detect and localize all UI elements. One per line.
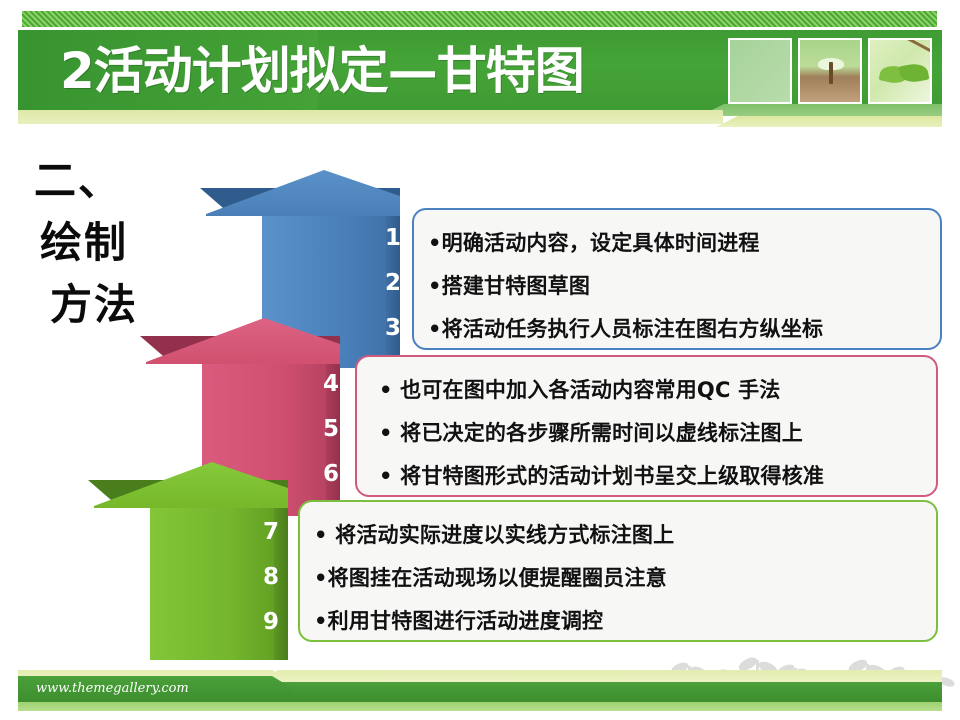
step-number: 4 [318,362,344,407]
list-item: •将图挂在活动现场以便提醒圈员注意 [314,557,922,600]
content-box-blue: •明确活动内容，设定具体时间进程 •搭建甘特图草图 •将活动任务执行人员标注在图… [412,208,942,350]
list-item: • 也可在图中加入各活动内容常用QC 手法 [371,369,922,412]
header-thumbnail-strip [728,38,938,104]
list-item: •搭建甘特图草图 [428,265,926,308]
step-number: 5 [318,407,344,452]
plain-green-swatch-icon [728,38,792,104]
content-box-green: • 将活动实际进度以实线方式标注图上 •将图挂在活动现场以便提醒圈员注意 •利用… [298,500,938,642]
step-number: 1 [380,216,406,261]
header-pale-band-left [18,110,723,124]
list-item: •将活动任务执行人员标注在图右方纵坐标 [428,308,926,351]
list-item: •明确活动内容，设定具体时间进程 [428,222,926,265]
header-green-band-right [700,104,942,116]
content-list-red: • 也可在图中加入各活动内容常用QC 手法 • 将已决定的各步骤所需时间以虚线标… [357,357,936,498]
list-item: • 将已决定的各步骤所需时间以虚线标注图上 [371,412,922,455]
header-pale-band-right [716,116,942,127]
step-number: 2 [380,261,406,306]
content-list-green: • 将活动实际进度以实线方式标注图上 •将图挂在活动现场以便提醒圈员注意 •利用… [300,502,936,643]
seedling-photo-icon [798,38,862,104]
step-number: 6 [318,452,344,497]
step-numbers-blue: 1 2 3 [380,216,406,346]
footer-url-label: www.themegallery.com [36,678,189,700]
step-number: 3 [380,306,406,351]
step-numbers-red: 4 5 6 [318,362,344,492]
page-title: 2活动计划拟定—甘特图 [60,36,720,106]
section-heading: 二、 绘制 方法 [30,150,200,336]
step-number: 9 [258,600,284,645]
green-leaves-photo-icon [868,38,932,104]
list-item: • 将甘特图形式的活动计划书呈交上级取得核准 [371,455,922,498]
section-heading-line-2: 绘制 [30,212,200,274]
step-number: 7 [258,510,284,555]
content-box-red: • 也可在图中加入各活动内容常用QC 手法 • 将已决定的各步骤所需时间以虚线标… [355,355,938,497]
list-item: • 将活动实际进度以实线方式标注图上 [314,514,922,557]
striped-decoration-band [22,11,937,27]
list-item: •利用甘特图进行活动进度调控 [314,600,922,643]
footer-green-band-right [276,682,942,702]
step-numbers-green: 7 8 9 [258,510,284,640]
section-heading-line-1: 二、 [30,150,200,212]
footer-bottom-strip [18,702,942,711]
step-number: 8 [258,555,284,600]
branch-shape-icon [901,38,932,53]
slide-header: 2活动计划拟定—甘特图 [0,0,960,128]
content-list-blue: •明确活动内容，设定具体时间进程 •搭建甘特图草图 •将活动任务执行人员标注在图… [414,210,940,351]
